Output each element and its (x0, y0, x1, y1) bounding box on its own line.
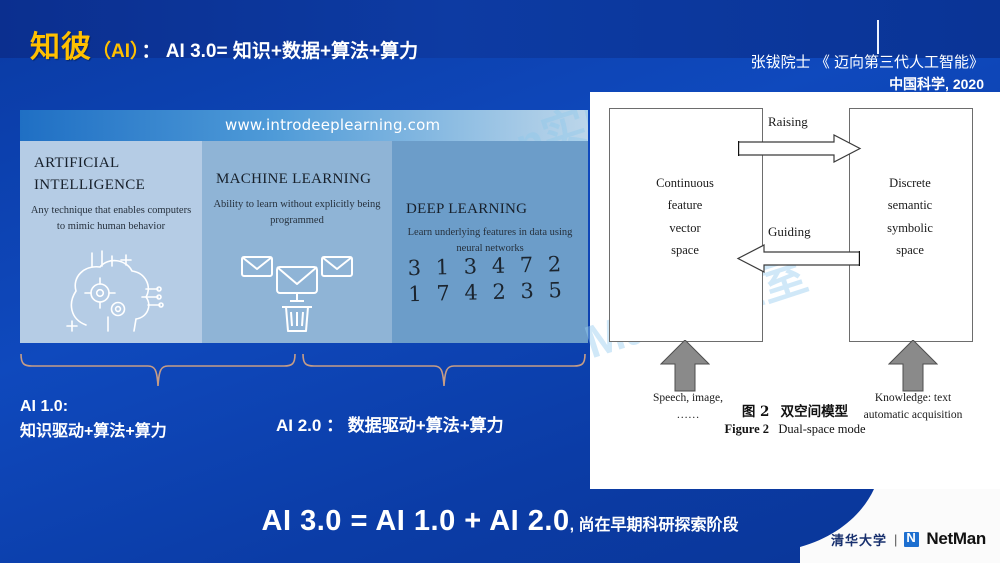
guiding-arrow-label: Guiding (768, 224, 811, 240)
panel-deep-learning: DEEP LEARNING Learn underlying features … (392, 141, 588, 343)
panel-artificial-intelligence: ARTIFICIAL INTELLIGENCE Any technique th… (20, 141, 202, 343)
raising-arrow (738, 134, 862, 170)
panel-ml-desc: Ability to learn without explicitly bein… (210, 197, 384, 229)
title-ai-token: （AI） (92, 41, 140, 62)
brand-logo: 清华大学 | NetMan (831, 529, 986, 549)
citation: 张钹院士 《 迈向第三代人工智能》 中国科学, 2020 (751, 52, 984, 94)
email-spam-filter-icon (230, 251, 364, 335)
figure-caption-cn-text: 双空间模型 (781, 404, 849, 419)
guiding-arrow (736, 244, 860, 280)
brace-ai-2 (300, 352, 588, 388)
brace-ai-1 (18, 352, 298, 388)
swoosh-shape (800, 489, 1000, 563)
decorative-tick (877, 20, 879, 54)
raising-arrow-label: Raising (768, 114, 808, 130)
footer-swoosh: 清华大学 | NetMan (800, 489, 1000, 563)
summary-note: , 尚在早期科研探索阶段 (570, 517, 739, 534)
image-url-text: www.introdeeplearning.com (225, 116, 440, 134)
netman-brand-text: NetMan (926, 529, 986, 549)
input-arrow-right (888, 340, 938, 392)
input-arrow-left (660, 340, 710, 392)
slide-canvas: 知彼（AI）： AI 3.0= 知识+数据+算法+算力 张钹院士 《 迈向第三代… (0, 0, 1000, 563)
netman-mark-icon (904, 532, 919, 547)
logo-separator: | (894, 532, 897, 547)
brain-circuit-icon (56, 247, 166, 333)
figure-caption-cn: 图 2 双空间模型 (590, 400, 1000, 420)
figure-caption-en-text: Dual-space mode (778, 422, 865, 436)
figure-caption-en: Figure 2 Dual-space mode (590, 422, 1000, 437)
title-highlight: 知彼 (30, 31, 92, 64)
digits-row-2: 1 7 4 2 3 5 (408, 277, 579, 308)
panel-ai-desc: Any technique that enables computers to … (28, 203, 194, 235)
citation-line-1: 张钹院士 《 迈向第三代人工智能》 (751, 52, 984, 74)
university-logo-text: 清华大学 (831, 530, 887, 549)
panel-ml-title: MACHINE LEARNING (216, 169, 371, 191)
panel-machine-learning: MACHINE LEARNING Ability to learn withou… (202, 141, 392, 343)
figure-caption-en-prefix: Figure 2 (724, 422, 769, 436)
panel-ai-title-line2: INTELLIGENCE (34, 177, 145, 193)
citation-line-2: 中国科学, 2020 (751, 74, 984, 94)
label-ai-2: AI 2.0 ： 数据驱动+算法+算力 (276, 411, 504, 436)
page-title: 知彼（AI）： AI 3.0= 知识+数据+算法+算力 (30, 22, 418, 66)
dual-space-figure: Man实验室 Continuous feature vector space D… (590, 92, 1000, 489)
handwritten-digits-icon: 3 1 3 4 7 2 1 7 4 2 3 5 (407, 251, 578, 308)
panel-ai-title-line1: ARTIFICIAL (34, 155, 119, 171)
panel-ai-title: ARTIFICIAL INTELLIGENCE (34, 153, 145, 197)
panel-dl-title: DEEP LEARNING (406, 199, 527, 221)
discrete-space-label: Discrete semantic symbolic space (849, 172, 971, 261)
label-ai-1: AI 1.0: 知识驱动+算法+算力 (20, 395, 167, 445)
title-rest: ： AI 3.0= 知识+数据+算法+算力 (142, 41, 419, 62)
summary-equation: AI 3.0 = AI 1.0 + AI 2.0 (262, 505, 570, 537)
ai-venn-image: www.introdeeplearning.com 智网@清华NetMan实验室… (20, 110, 588, 343)
figure-caption-cn-prefix: 图 2 (742, 404, 770, 420)
